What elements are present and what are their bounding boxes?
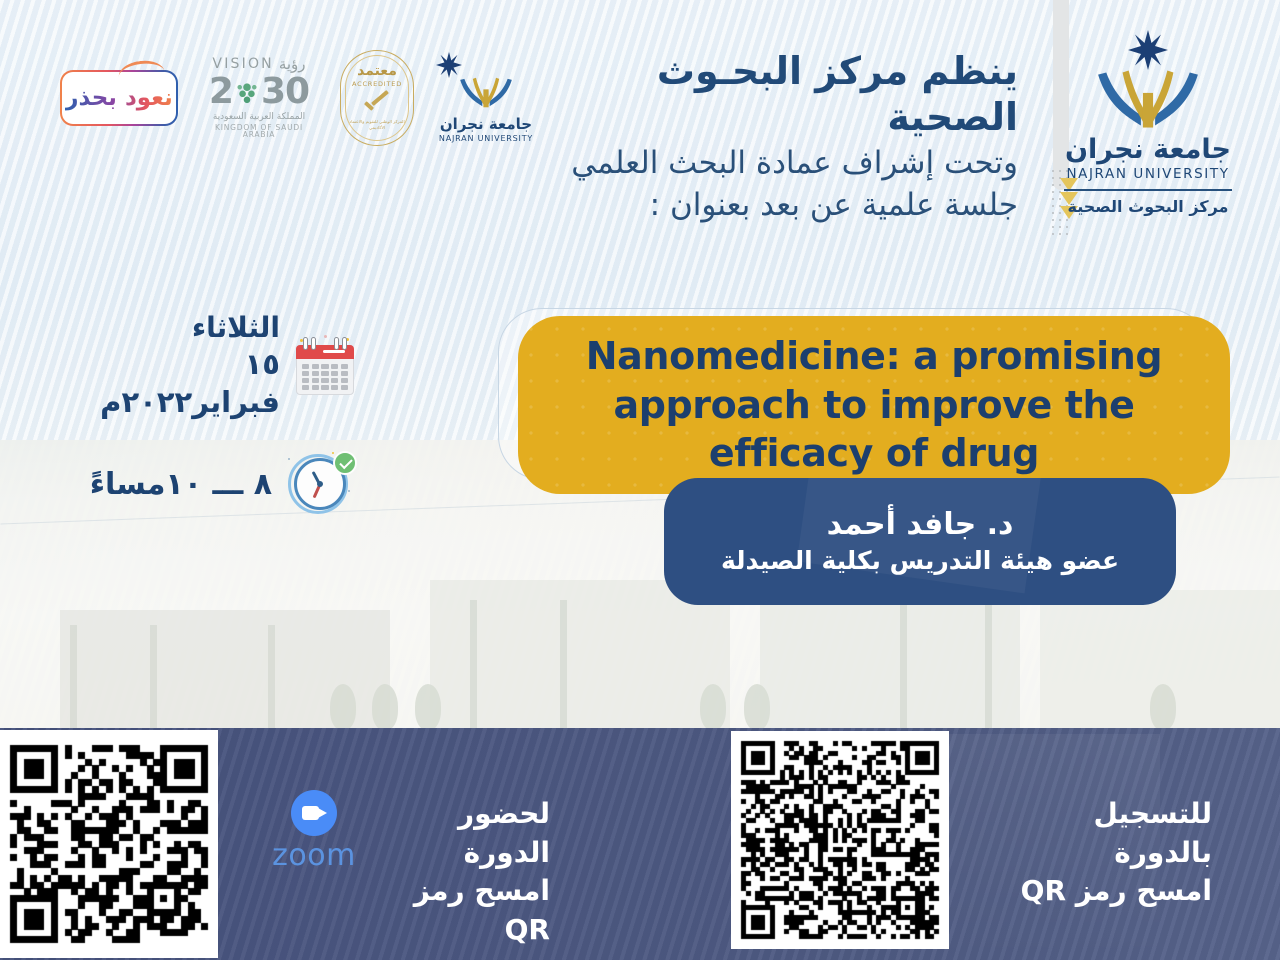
session-title: Nanomedicine: a promising approach to im… (518, 332, 1230, 478)
speaker-card: د. جافد أحمد عضو هيئة التدريس بكلية الصي… (664, 478, 1176, 605)
register-qr-code[interactable] (731, 731, 949, 949)
attend-line-1: لحضور الدورة (380, 795, 550, 872)
speaker-name: د. جافد أحمد (827, 506, 1014, 544)
event-time-text: ٨ ـــ ١٠مساءً (90, 466, 272, 504)
najran-name-ar: جامعة نجران (436, 115, 536, 133)
header-line-3: جلسة علمية عن بعد بعنوان : (528, 185, 1018, 227)
vision-word-en: VISION (212, 57, 273, 71)
najran-name-ar: جامعة نجران (1048, 134, 1248, 165)
attend-line-2: امسح رمز QR (380, 872, 550, 949)
session-title-card: Nanomedicine: a promising approach to im… (518, 316, 1230, 494)
header-line-2: وتحت إشراف عمادة البحث العلمي (528, 143, 1018, 185)
naood-bihathar-logo: نعود بحذر (60, 70, 178, 126)
star-icon (1128, 30, 1168, 70)
event-day-name: الثلاثاء (56, 310, 280, 346)
accredited-sublabel: المركز الوطني للتقويم والاعتماد الأكاديم… (341, 119, 413, 132)
vision-year-left: 2 (209, 74, 233, 110)
event-time-row: ٨ ـــ ١٠مساءً (56, 450, 356, 520)
event-poster: نعود بحذر VISION رؤية 2 30 المملكة العرب… (0, 0, 1280, 960)
accredited-seal: معتمد ACCREDITED المركز الوطني للتقويم و… (340, 50, 414, 146)
zoom-logo: zoom (262, 790, 366, 873)
kingdom-label-ar: المملكة العربية السعودية (200, 113, 318, 122)
event-datetime-block: الثلاثاء ١٥ فبراير٢٠٢٢م ٨ ـــ ١٠مساءً (56, 310, 356, 520)
health-research-center-label: مركز البحوث الصحية (1048, 197, 1248, 216)
kingdom-label-en: KINGDOM OF SAUDI ARABIA (200, 124, 318, 139)
zoom-wordmark: zoom (262, 838, 366, 873)
najran-name-en: NAJRAN UNIVERSITY (436, 134, 536, 143)
header-line-1: ينظم مركز البحـوث الصحية (528, 48, 1018, 141)
vision-2030-logo: VISION رؤية 2 30 المملكة العربية السعودي… (200, 57, 318, 139)
checkmark-icon (362, 95, 392, 117)
najran-name-en: NAJRAN UNIVERSITY (1048, 166, 1248, 182)
header-arabic-block: ينظم مركز البحـوث الصحية وتحت إشراف عماد… (528, 48, 1018, 226)
fan-emblem-icon (1092, 66, 1204, 130)
accredited-label-ar: معتمد (357, 64, 397, 78)
partner-logos-row: نعود بحذر VISION رؤية 2 30 المملكة العرب… (60, 40, 536, 155)
calendar-icon (294, 335, 356, 397)
register-instructions: للتسجيل بالدورة امسح رمز QR (1000, 795, 1212, 911)
video-camera-icon (291, 790, 337, 836)
vision-year-right: 30 (261, 74, 309, 110)
accredited-label-en: ACCREDITED (352, 80, 402, 88)
fan-emblem-icon (457, 75, 515, 109)
logo-divider (1064, 189, 1232, 191)
naood-label: نعود بحذر (65, 85, 173, 111)
event-date-row: الثلاثاء ١٥ فبراير٢٠٢٢م (56, 310, 356, 422)
attend-instructions: لحضور الدورة امسح رمز QR (380, 795, 550, 950)
speaker-role: عضو هيئة التدريس بكلية الصيدلة (721, 545, 1119, 578)
vision-word-ar: رؤية (279, 57, 306, 72)
najran-university-logo: جامعة نجران NAJRAN UNIVERSITY مركز البحو… (1048, 30, 1248, 216)
attend-qr-code[interactable] (0, 730, 218, 958)
clock-icon (286, 450, 356, 520)
najran-university-logo-small: جامعة نجران NAJRAN UNIVERSITY (436, 52, 536, 143)
register-line-1: للتسجيل بالدورة (1000, 795, 1212, 872)
register-line-2: امسح رمز QR (1000, 872, 1212, 911)
event-date-text: ١٥ فبراير٢٠٢٢م (56, 346, 280, 421)
saudi-emblem-icon (234, 77, 260, 107)
